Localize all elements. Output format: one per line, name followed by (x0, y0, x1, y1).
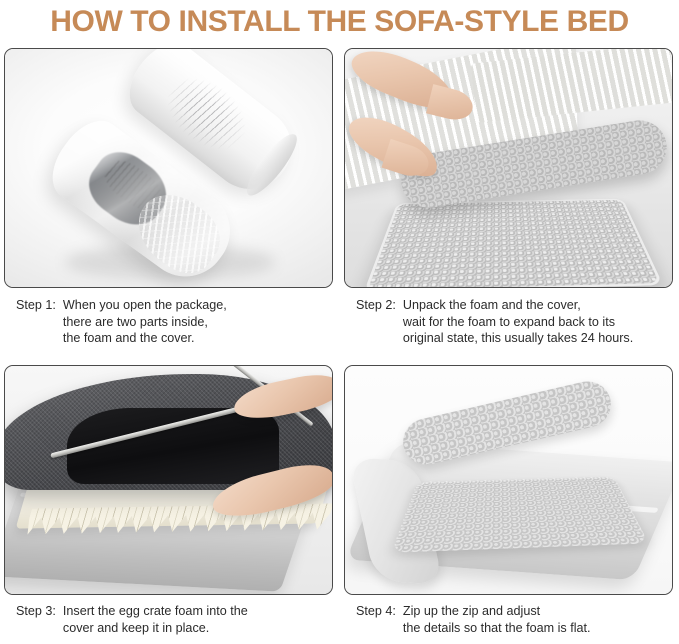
step-2-label: Step 2: (356, 297, 403, 314)
caption-line: the details so that the foam is flat. (403, 620, 671, 637)
step-3-photo-frame (4, 365, 333, 595)
step-4-photo-frame (344, 365, 673, 595)
plush-cover-mat (363, 199, 663, 287)
step-3-photo (5, 366, 332, 594)
step-cell-3: Step 3: Insert the egg crate foam into t… (0, 363, 339, 636)
step-cell-4: Step 4: Zip up the zip and adjust the de… (340, 363, 679, 636)
page-title: HOW TO INSTALL THE SOFA-STYLE BED (0, 3, 679, 43)
caption-line: wait for the foam to expand back to its (403, 314, 671, 331)
step-1-photo (5, 49, 332, 287)
step-4-text: Zip up the zip and adjust the details so… (403, 603, 671, 636)
step-4-caption: Step 4: Zip up the zip and adjust the de… (340, 595, 679, 636)
caption-line: the foam and the cover. (63, 330, 331, 347)
step-cell-1: Step 1: When you open the package, there… (0, 46, 339, 347)
infographic-root: HOW TO INSTALL THE SOFA-STYLE BED Step 1… (0, 0, 679, 644)
caption-line: When you open the package, (63, 297, 331, 314)
step-3-caption: Step 3: Insert the egg crate foam into t… (0, 595, 339, 636)
step-2-photo-frame (344, 48, 673, 288)
caption-line: there are two parts inside, (63, 314, 331, 331)
caption-line: cover and keep it in place. (63, 620, 331, 637)
step-3-text: Insert the egg crate foam into the cover… (63, 603, 331, 636)
caption-line: Zip up the zip and adjust (403, 603, 671, 620)
step-2-photo (345, 49, 672, 287)
step-1-text: When you open the package, there are two… (63, 297, 331, 347)
caption-line: original state, this usually takes 24 ho… (403, 330, 671, 347)
step-2-caption: Step 2: Unpack the foam and the cover, w… (340, 288, 679, 347)
step-4-label: Step 4: (356, 603, 403, 620)
step-2-text: Unpack the foam and the cover, wait for … (403, 297, 671, 347)
caption-line: Insert the egg crate foam into the (63, 603, 331, 620)
bed-cushion (391, 477, 649, 553)
step-cell-2: Step 2: Unpack the foam and the cover, w… (340, 46, 679, 347)
step-1-photo-frame (4, 48, 333, 288)
egg-crate-foam-back (470, 49, 672, 123)
step-1-caption: Step 1: When you open the package, there… (0, 288, 339, 347)
step-3-label: Step 3: (16, 603, 63, 620)
step-1-label: Step 1: (16, 297, 63, 314)
step-4-photo (345, 366, 672, 594)
caption-line: Unpack the foam and the cover, (403, 297, 671, 314)
foam-texture (151, 61, 262, 166)
